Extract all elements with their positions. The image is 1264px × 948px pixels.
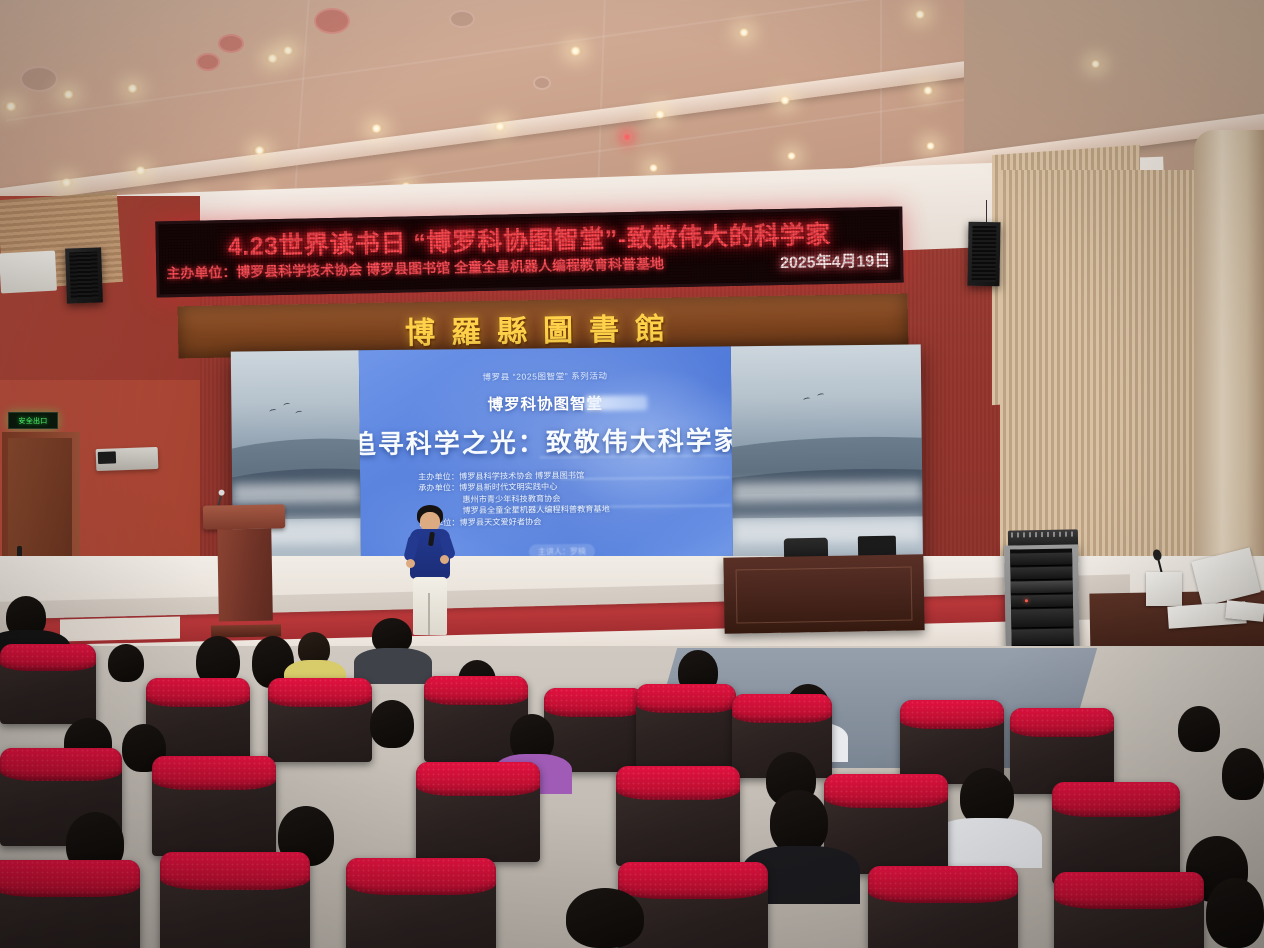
- seat-back: [636, 684, 736, 768]
- emergency-exit-sign: 安全出口: [8, 412, 58, 429]
- auditorium-seat[interactable]: [1054, 872, 1204, 948]
- paper-stack: [1146, 572, 1182, 606]
- presenter-hand-left: [406, 559, 415, 568]
- seat-back: [616, 766, 740, 866]
- ceiling-fixture: [314, 8, 350, 34]
- rack-status-led: [1025, 599, 1028, 602]
- audience-head: [566, 888, 644, 948]
- ceiling-downlight: [1090, 60, 1101, 68]
- seat-headrest: [544, 688, 644, 717]
- seat-back: [268, 678, 372, 762]
- rack-unit-processor: [1011, 594, 1073, 608]
- seat-headrest: [618, 862, 768, 899]
- presenter-on-stage: [404, 505, 456, 637]
- seat-headrest: [1010, 708, 1114, 737]
- air-conditioner-unit: [0, 251, 57, 294]
- ceiling-downlight: [738, 28, 750, 37]
- rack-unit-amplifier: [1010, 566, 1072, 580]
- wall-mounted-device: [96, 447, 159, 471]
- seat-headrest: [0, 644, 96, 671]
- seat-back: [0, 860, 140, 948]
- seat-headrest: [0, 748, 122, 781]
- ceiling-downlight: [126, 84, 139, 93]
- ceiling-downlight: [282, 46, 294, 55]
- led-banner-date: 2025年4月19日: [780, 247, 891, 273]
- bird-icon: [803, 397, 811, 402]
- table-panel-detail: [736, 566, 913, 623]
- seat-headrest: [824, 774, 948, 808]
- bird-icon: [295, 410, 303, 415]
- seat-back: [1054, 872, 1204, 948]
- seat-headrest: [636, 684, 736, 713]
- ceiling-downlight: [925, 142, 936, 150]
- bird-icon: [269, 408, 277, 413]
- presenter-pants: [413, 577, 447, 635]
- head-table: [723, 554, 924, 633]
- seat-back: [160, 852, 310, 948]
- auditorium-seat[interactable]: [616, 766, 740, 866]
- ceiling-downlight: [134, 166, 147, 175]
- audience-head: [1206, 878, 1264, 948]
- slide-subtitle-text: 博罗科协图智堂: [359, 390, 731, 416]
- rack-unit-cd-player: [1011, 580, 1073, 594]
- mist-band: [232, 482, 360, 503]
- seat-headrest: [146, 678, 250, 707]
- podium-top: [203, 504, 285, 529]
- seat-headrest: [152, 756, 276, 790]
- seat-headrest: [424, 676, 528, 705]
- ceiling-downlight: [370, 124, 383, 133]
- seat-headrest: [868, 866, 1018, 903]
- seat-headrest: [1052, 782, 1180, 817]
- ceiling-downlight: [4, 102, 18, 111]
- loudspeaker-left: [65, 247, 103, 303]
- seat-back: [0, 644, 96, 724]
- ceiling-downlight: [648, 164, 659, 172]
- ceiling-vent: [20, 66, 58, 92]
- auditorium-seat[interactable]: [416, 762, 540, 862]
- rack-unit-power: [1011, 608, 1073, 628]
- ceiling-downlight: [786, 152, 797, 160]
- rack-unit-amplifier: [1010, 552, 1072, 566]
- seat-headrest: [1054, 872, 1204, 909]
- mixer-knobs: [1011, 531, 1075, 537]
- audience-head: [1222, 748, 1264, 800]
- paper-sheet: [1225, 600, 1264, 622]
- loudspeaker-right: [967, 222, 1000, 287]
- ceiling-vent: [449, 10, 475, 28]
- audience-head: [370, 700, 414, 748]
- slide-organizer-list: 主办单位：博罗县科学技术协会 博罗县图书馆 承办单位：博罗县新时代文明实践中心 …: [418, 469, 719, 529]
- seat-headrest: [0, 860, 140, 897]
- podium-body: [217, 529, 273, 622]
- auditorium-seat[interactable]: [0, 644, 96, 724]
- bird-icon: [283, 402, 291, 407]
- speaker-grill-icon: [69, 252, 99, 300]
- mist-band: [732, 480, 922, 502]
- seat-back: [346, 858, 496, 948]
- auditorium-seat[interactable]: [636, 684, 736, 768]
- ceiling-downlight: [779, 96, 791, 105]
- ceiling-downlight: [266, 54, 279, 63]
- organizer-line: 协办单位：博罗县天文爱好者协会: [419, 514, 719, 529]
- ceiling-downlight: [914, 10, 926, 19]
- audience-head: [1178, 706, 1220, 752]
- slide-title-text: 《追寻科学之光：致敬伟大科学家》: [359, 420, 733, 462]
- ceiling-fixture: [196, 53, 220, 71]
- auditorium-seat[interactable]: [0, 860, 140, 948]
- ceiling-red-indicator: [622, 132, 632, 142]
- podium: [203, 504, 287, 637]
- seat-back: [868, 866, 1018, 948]
- speaker-grill-icon: [972, 226, 997, 282]
- presenter-hand-right: [440, 555, 449, 564]
- ceiling-fixture: [218, 34, 244, 53]
- audience-head: [770, 790, 828, 854]
- led-banner: 4.23世界读书日 “博罗科协图智堂”-致敬伟大的科学家 主办单位：博罗县科学技…: [155, 207, 903, 298]
- seat-back: [152, 756, 276, 856]
- auditorium-seat[interactable]: [1052, 782, 1180, 884]
- seat-headrest: [732, 694, 832, 723]
- ceiling-downlight: [60, 178, 73, 187]
- ceiling-downlight: [569, 46, 582, 56]
- auditorium-seat[interactable]: [346, 858, 496, 948]
- rack-unit-power: [1011, 628, 1073, 646]
- audience-head: [108, 644, 144, 682]
- ceiling-downlight: [253, 146, 266, 155]
- seat-headrest: [616, 766, 740, 800]
- auditorium-seat[interactable]: [160, 852, 310, 948]
- rack-interior: [1010, 548, 1074, 661]
- exit-sign-label: 安全出口: [18, 416, 47, 426]
- bird-icon: [817, 393, 825, 398]
- ceiling-downlight: [494, 122, 506, 131]
- auditorium-seat[interactable]: [152, 756, 276, 856]
- auditorium-photo-scene: 4.23世界读书日 “博罗科协图智堂”-致敬伟大的科学家 主办单位：博罗县科学技…: [0, 0, 1264, 948]
- auditorium-seat[interactable]: [268, 678, 372, 762]
- slide-redacted-block: [585, 395, 647, 411]
- auditorium-seat[interactable]: [868, 866, 1018, 948]
- seat-back: [1052, 782, 1180, 884]
- seat-headrest: [160, 852, 310, 890]
- ceiling-downlight: [62, 90, 75, 99]
- seat-headrest: [900, 700, 1004, 729]
- stage-step: [60, 617, 180, 642]
- seat-headrest: [416, 762, 540, 796]
- ceiling-downlight: [922, 86, 934, 95]
- seat-headrest: [268, 678, 372, 707]
- seat-back: [416, 762, 540, 862]
- ceiling-vent: [533, 76, 551, 90]
- ceiling-downlight: [654, 110, 666, 119]
- seat-headrest: [346, 858, 496, 895]
